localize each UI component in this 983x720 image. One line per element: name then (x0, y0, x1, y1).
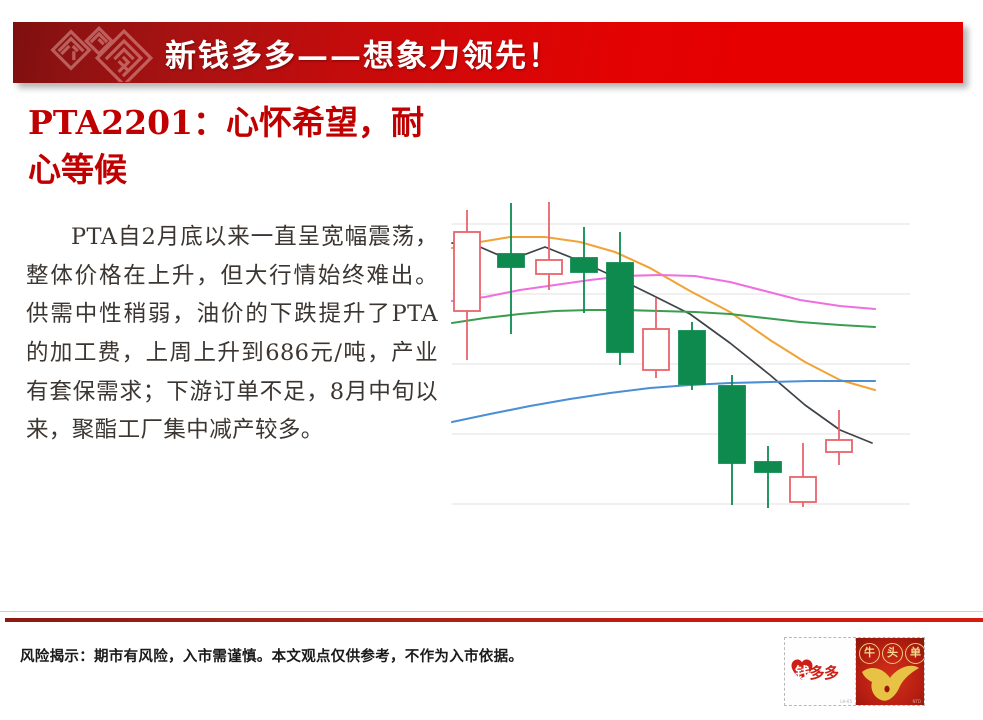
qdd-heart-char: 钱 (795, 664, 810, 682)
bull-head-icon (856, 658, 924, 705)
qianduoduo-logo-text: 钱多多 (795, 662, 839, 683)
page-title: PTA2201：心怀希望，耐心等候 (28, 100, 428, 194)
ntd-char-0: 牛 (859, 643, 880, 664)
footer-logos: 钱多多 LH-05 牛 头 单 NTD (784, 637, 925, 706)
ntd-char-1: 头 (882, 643, 903, 664)
candle-8 (755, 446, 781, 508)
qianduoduo-logo: 钱多多 LH-05 (785, 638, 856, 705)
header-banner: 新钱多多——想象力领先！ (13, 22, 963, 83)
ntd-char-2: 单 (905, 643, 924, 664)
qdd-logo-code: LH-05 (840, 699, 852, 704)
candle-9 (790, 443, 816, 507)
candle-10 (826, 410, 852, 465)
candle-7 (719, 375, 745, 505)
chinese-knot-diamond-icon (31, 24, 161, 82)
candle-body (498, 254, 524, 267)
candle-body (679, 331, 705, 384)
candle-body (790, 477, 816, 502)
risk-disclaimer: 风险揭示：期市有风险，入市需谨慎。本文观点仅供参考，不作为入市依据。 (20, 645, 523, 666)
ma-line-MA-blue (452, 381, 875, 422)
ntd-logo-code: NTD (912, 699, 921, 704)
body-paragraph: PTA自2月底以来一直呈宽幅震荡，整体价格在上升，但大行情始终难出。供需中性稍弱… (26, 218, 438, 450)
candle-3 (571, 227, 597, 313)
footer-divider-red (5, 618, 983, 622)
banner-title: 新钱多多——想象力领先！ (165, 30, 561, 75)
niutoudan-logo: 牛 头 单 NTD (856, 638, 924, 705)
candle-4 (607, 232, 633, 365)
niutoudan-char-circles: 牛 头 单 (859, 643, 924, 664)
chart-canvas (440, 190, 940, 530)
candle-2 (536, 202, 562, 290)
candle-body (607, 263, 633, 352)
ma-line-MA-green (452, 310, 875, 327)
candle-body (643, 329, 669, 370)
candle-body (454, 232, 480, 311)
candle-0 (454, 210, 480, 360)
candle-body (755, 462, 781, 472)
qdd-rest-chars: 多多 (810, 664, 839, 682)
candle-body (826, 440, 852, 452)
candle-body (719, 386, 745, 463)
ma-line-MA-magenta (452, 275, 875, 309)
candle-body (571, 258, 597, 272)
candlestick-chart (440, 190, 940, 530)
candle-body (536, 260, 562, 274)
footer-divider-light (0, 611, 983, 612)
candle-6 (679, 322, 705, 390)
